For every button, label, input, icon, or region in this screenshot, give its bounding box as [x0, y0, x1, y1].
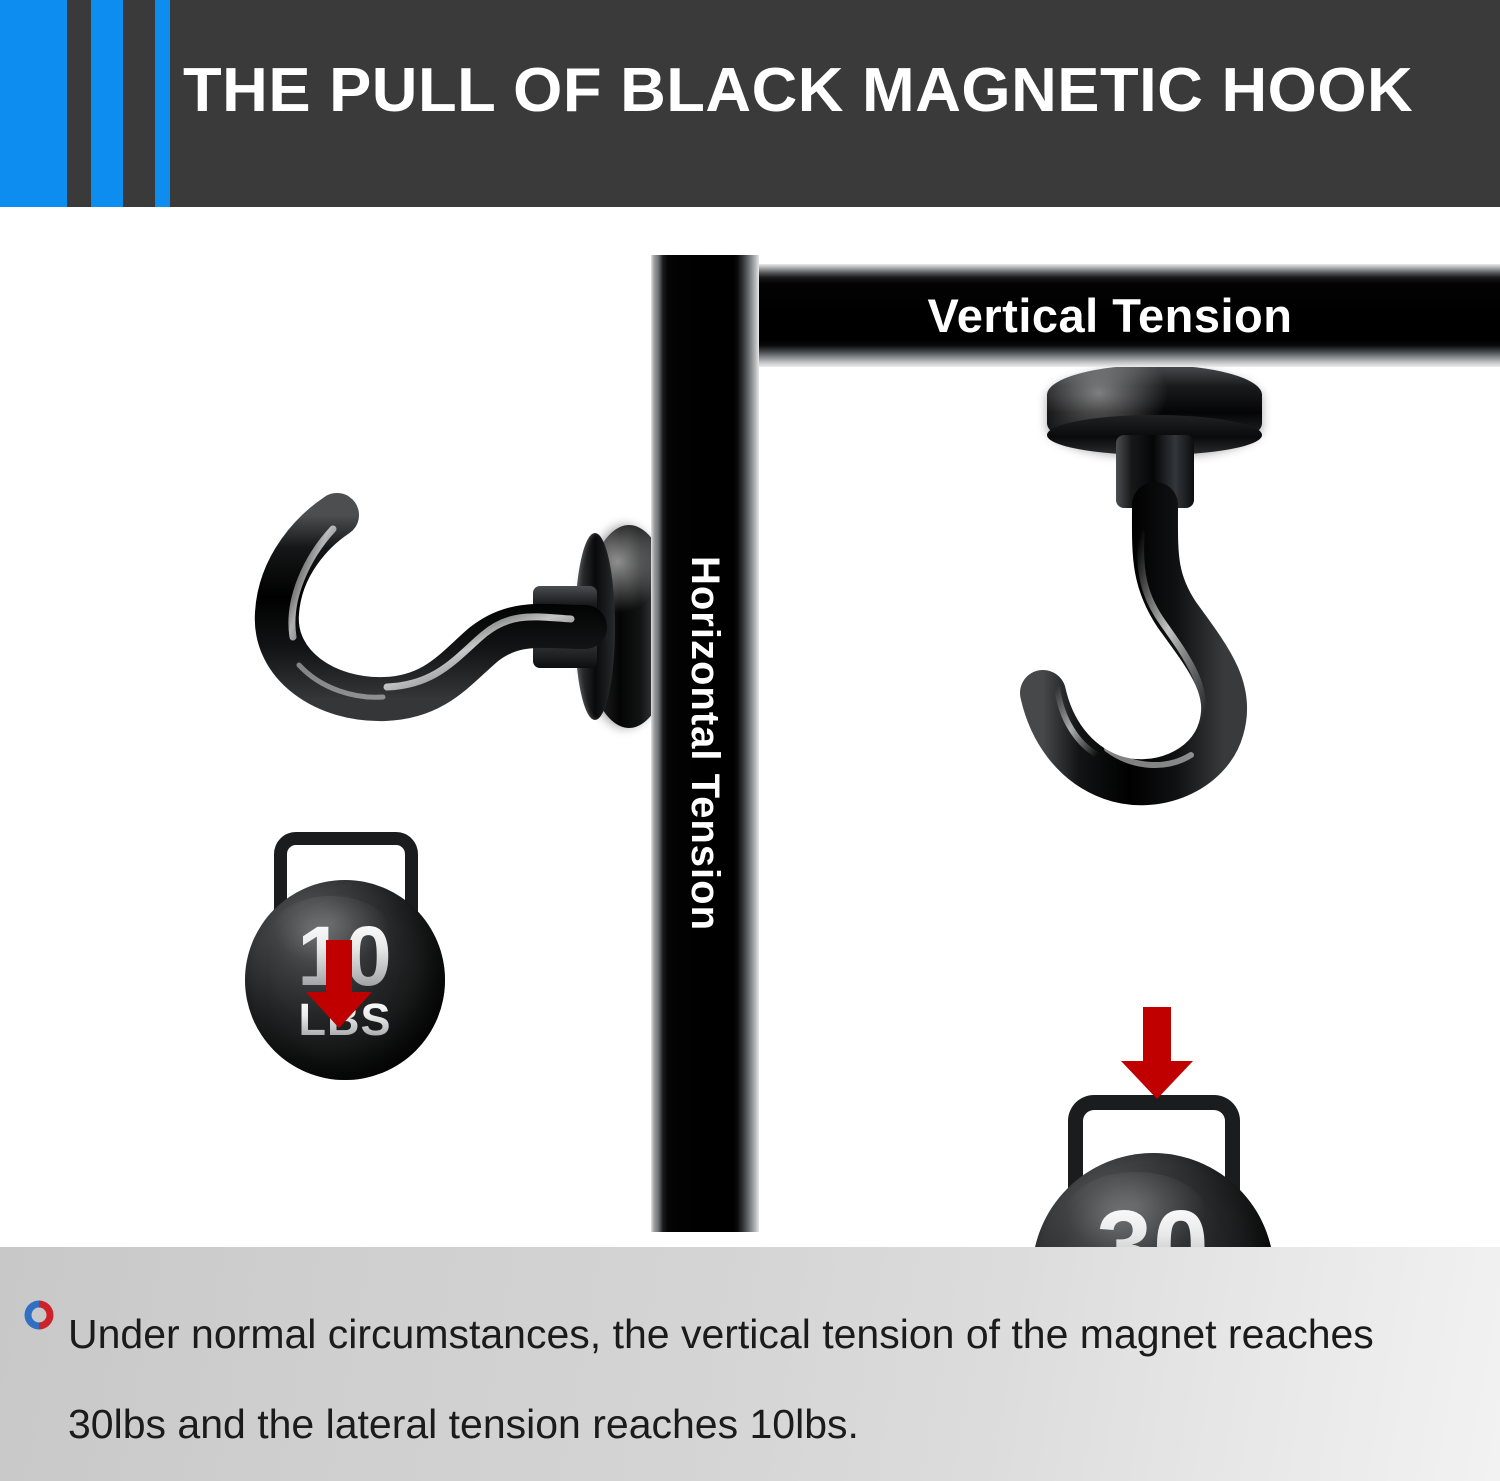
accent-stripe-thin	[155, 0, 170, 207]
product-infographic: THE PULL OF BLACK MAGNETIC HOOK Vertical…	[0, 0, 1500, 1481]
caption-text: Under normal circumstances, the vertical…	[68, 1289, 1460, 1469]
page-title: THE PULL OF BLACK MAGNETIC HOOK	[183, 54, 1500, 128]
arrow-head	[1121, 1061, 1193, 1099]
weight-30lbs: 30 LBS	[1030, 1095, 1278, 1247]
down-arrow-right-icon	[1118, 1007, 1196, 1099]
arrow-head	[306, 992, 372, 1028]
ceiling-surface-bar	[740, 264, 1500, 367]
ceiling-mounted-magnet-hook	[985, 357, 1315, 827]
hook-left-icon	[215, 487, 675, 737]
split-ring-bullet-icon	[22, 1298, 56, 1332]
accent-stripe-medium	[91, 0, 123, 207]
diagram-stage: Vertical Tension Horizontal Tension	[0, 207, 1500, 1247]
header-banner: THE PULL OF BLACK MAGNETIC HOOK	[0, 0, 1500, 207]
arrow-shaft	[1143, 1007, 1171, 1063]
arrow-shaft	[326, 940, 352, 995]
wall-surface-bar	[651, 255, 759, 1232]
weight-value-30: 30	[1096, 1200, 1209, 1247]
wall-mounted-magnet-hook	[215, 487, 675, 737]
down-arrow-left-icon	[303, 940, 375, 1028]
accent-stripe-wide	[0, 0, 67, 207]
caption-band: Under normal circumstances, the vertical…	[0, 1247, 1500, 1481]
hook-right-icon	[985, 357, 1315, 827]
